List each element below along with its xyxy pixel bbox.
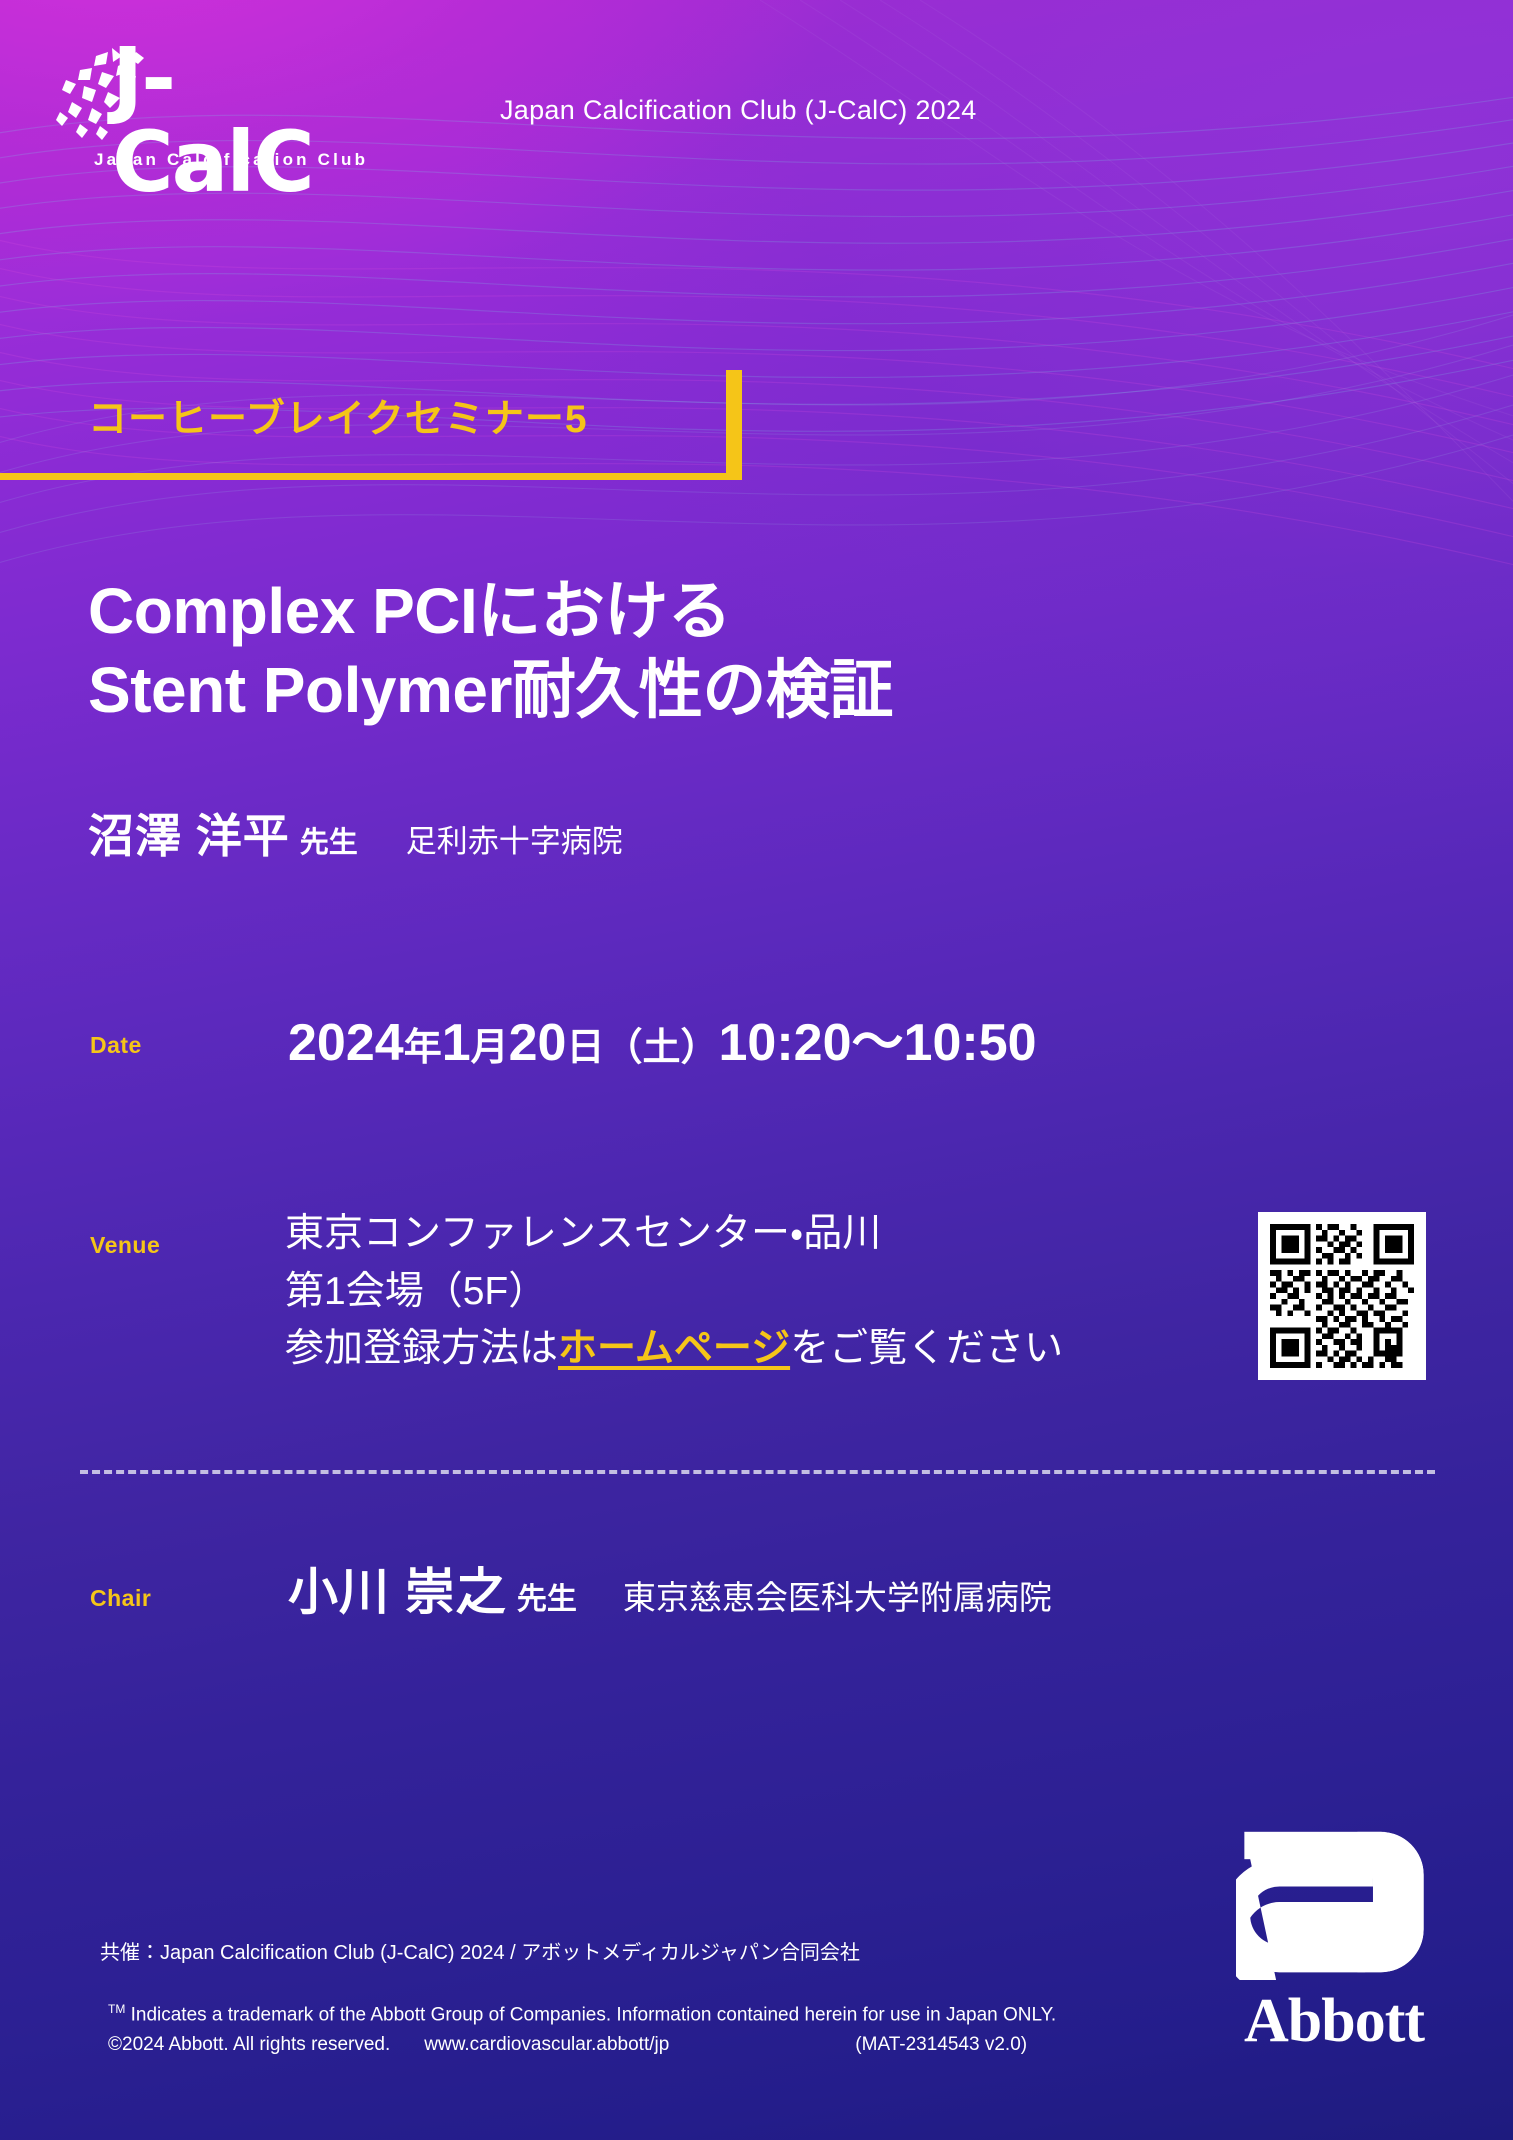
venue-registration-prefix: 参加登録方法は bbox=[285, 1327, 558, 1370]
venue-line-3: 参加登録方法はホームページをご覧ください bbox=[285, 1320, 1063, 1378]
poster-header: J-CalC Japan Calcification Club Japan Ca… bbox=[52, 42, 1513, 202]
date-month-unit: 月 bbox=[471, 1027, 509, 1069]
session-ribbon-label: コーヒーブレイクセミナー5 bbox=[88, 388, 588, 444]
legal-text: TM Indicates a trademark of the Abbott G… bbox=[108, 2000, 1188, 2059]
presenter-name: 沼澤 洋平 bbox=[88, 800, 290, 866]
chair-name: 小川 崇之 bbox=[288, 1552, 507, 1624]
venue-value: 東京コンファレンスセンター・品川 第1会場（5F） 参加登録方法はホームページを… bbox=[285, 1205, 1063, 1378]
ribbon-accent-bar bbox=[726, 370, 742, 473]
date-label: Date bbox=[90, 1032, 142, 1059]
seminar-poster: J-CalC Japan Calcification Club Japan Ca… bbox=[0, 0, 1513, 2140]
date-day: 20 bbox=[509, 1014, 567, 1072]
trademark-symbol: TM bbox=[108, 2002, 125, 2016]
date-value: 2024年1月20日（土）10:20～10:50 bbox=[288, 1000, 1037, 1075]
venue-registration-suffix: をご覧ください bbox=[790, 1327, 1063, 1370]
presenter-honorific: 先生 bbox=[300, 819, 358, 861]
date-year: 2024 bbox=[288, 1014, 404, 1072]
venue-label: Venue bbox=[90, 1232, 160, 1259]
cohost-text: 共催：Japan Calcification Club (J-CalC) 202… bbox=[100, 1936, 860, 1965]
logo-tagline: Japan Calcification Club bbox=[94, 150, 368, 170]
section-divider bbox=[80, 1470, 1435, 1474]
homepage-link[interactable]: ホームページ bbox=[558, 1327, 790, 1370]
legal-copyright: ©2024 Abbott. All rights reserved. bbox=[108, 2030, 390, 2059]
legal-line-1: TM Indicates a trademark of the Abbott G… bbox=[108, 2000, 1188, 2030]
date-day-unit: 日 bbox=[566, 1027, 604, 1069]
legal-website-url[interactable]: www.cardiovascular.abbott/jp bbox=[424, 2030, 669, 2059]
venue-line-2: 第1会場（5F） bbox=[285, 1263, 1063, 1321]
abbott-symbol-icon bbox=[1236, 1828, 1432, 1980]
jcalc-logo: J-CalC Japan Calcification Club bbox=[52, 42, 352, 150]
legal-line-2: ©2024 Abbott. All rights reserved. www.c… bbox=[108, 2030, 1188, 2059]
date-weekday: （土） bbox=[605, 1027, 719, 1069]
session-ribbon: コーヒーブレイクセミナー5 bbox=[0, 370, 742, 480]
session-title: Complex PCIにおける Stent Polymer耐久性の検証 bbox=[88, 572, 893, 729]
date-year-unit: 年 bbox=[404, 1027, 442, 1069]
legal-trademark-notice: Indicates a trademark of the Abbott Grou… bbox=[131, 2004, 1057, 2025]
presenter: 沼澤 洋平 先生 足利赤十字病院 bbox=[88, 800, 623, 866]
logo-wordmark: J-CalC bbox=[112, 36, 352, 204]
event-name: Japan Calcification Club (J-CalC) 2024 bbox=[500, 95, 977, 126]
time-separator: ～ bbox=[852, 1014, 904, 1072]
abbott-logo: Abbott bbox=[1218, 1828, 1450, 2052]
chair-honorific: 先生 bbox=[517, 1574, 577, 1618]
chair-label: Chair bbox=[90, 1585, 151, 1612]
registration-qr-code[interactable] bbox=[1258, 1212, 1426, 1380]
time-start: 10:20 bbox=[719, 1014, 852, 1072]
chair-value: 小川 崇之 先生 東京慈恵会医科大学附属病院 bbox=[288, 1552, 1052, 1624]
date-month: 1 bbox=[442, 1014, 471, 1072]
time-end: 10:50 bbox=[904, 1014, 1037, 1072]
legal-mat-code: (MAT-2314543 v2.0) bbox=[855, 2030, 1027, 2059]
chair-affiliation: 東京慈恵会医科大学附属病院 bbox=[623, 1571, 1052, 1619]
presenter-affiliation: 足利赤十字病院 bbox=[406, 816, 623, 861]
venue-line-1: 東京コンファレンスセンター・品川 bbox=[285, 1205, 1063, 1263]
abbott-wordmark: Abbott bbox=[1218, 1990, 1450, 2052]
